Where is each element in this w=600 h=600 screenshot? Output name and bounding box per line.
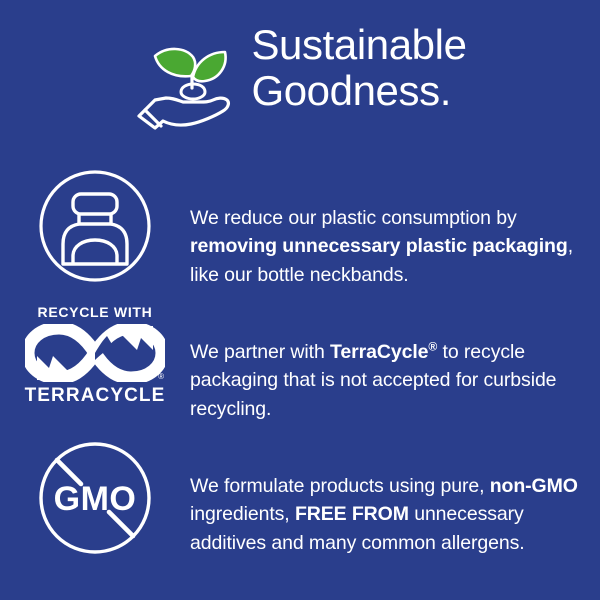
no-gmo-icon: GMO (37, 440, 153, 556)
sustainable-goodness-infographic: Sustainable Goodness. (0, 0, 600, 600)
hand-holding-plant-icon (133, 32, 237, 132)
brand-name: TerraCycle (330, 341, 428, 363)
terracycle-brand-name: TERRACYCLE (25, 385, 166, 407)
gmo-label: GMO (54, 480, 137, 518)
text-segment: We partner with (190, 341, 330, 363)
text-segment: We formulate products using pure, (190, 475, 490, 497)
icon-cell-terracycle: RECYCLE WITH ® (0, 302, 190, 407)
registered-trademark-icon: ® (158, 373, 164, 381)
terracycle-top-label: RECYCLE WITH (38, 304, 153, 320)
header-titles: Sustainable Goodness. (251, 22, 466, 114)
text-segment-bold: FREE FROM (295, 503, 409, 525)
text-segment-bold: TerraCycle® (330, 341, 437, 363)
terracycle-logo: RECYCLE WITH ® (20, 302, 170, 407)
header: Sustainable Goodness. (0, 22, 600, 137)
text-cell-plastic: We reduce our plastic consumption by rem… (190, 168, 600, 309)
icon-cell-bottle (0, 168, 190, 284)
bottle-in-circle-icon (37, 168, 153, 284)
text-cell-terracycle: We partner with TerraCycle® to recycle p… (190, 302, 600, 443)
text-segment-bold: removing unnecessary plastic packaging (190, 235, 568, 257)
feature-row-terracycle: RECYCLE WITH ® (0, 302, 600, 443)
page-title-line-2: Goodness. (251, 68, 466, 114)
text-segment-bold: non-GMO (490, 475, 578, 497)
registered-trademark-icon: ® (428, 339, 437, 353)
feature-text-plastic: We reduce our plastic consumption by rem… (190, 204, 582, 290)
text-segment: ingredients, (190, 503, 295, 525)
text-segment: We reduce our plastic consumption by (190, 207, 517, 229)
feature-row-plastic: We reduce our plastic consumption by rem… (0, 168, 600, 309)
page-title-line-1: Sustainable (251, 22, 466, 68)
feature-text-terracycle: We partner with TerraCycle® to recycle p… (190, 338, 582, 424)
text-cell-gmo: We formulate products using pure, non-GM… (190, 440, 600, 577)
infinity-recycle-arrows-icon: ® (25, 324, 165, 382)
feature-row-gmo: GMO We formulate products using pure, no… (0, 440, 600, 577)
feature-text-gmo: We formulate products using pure, non-GM… (190, 472, 582, 558)
icon-cell-gmo: GMO (0, 440, 190, 556)
